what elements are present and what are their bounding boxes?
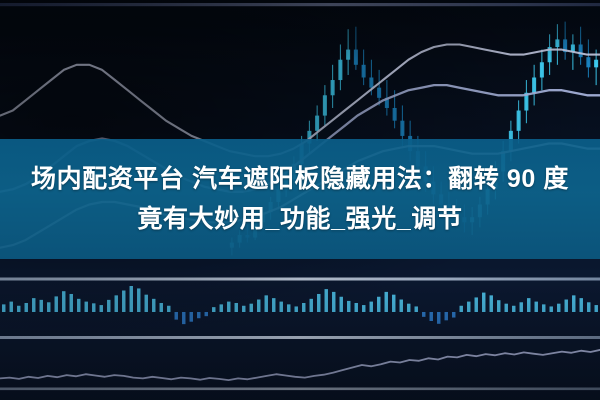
divider-top bbox=[0, 3, 600, 6]
divider-hist-bottom bbox=[0, 336, 600, 339]
headline-band: 场内配资平台 汽车遮阳板隐藏用法：翻转 90 度 竟有大妙用_功能_强光_调节 bbox=[0, 139, 600, 259]
headline-line-2: 竟有大妙用_功能_强光_调节 bbox=[137, 199, 462, 239]
divider-bottom bbox=[0, 388, 600, 391]
headline-line-1: 场内配资平台 汽车遮阳板隐藏用法：翻转 90 度 bbox=[31, 159, 569, 199]
divider-hist-top bbox=[0, 278, 600, 281]
stock-chart-banner: 场内配资平台 汽车遮阳板隐藏用法：翻转 90 度 竟有大妙用_功能_强光_调节 bbox=[0, 0, 600, 400]
